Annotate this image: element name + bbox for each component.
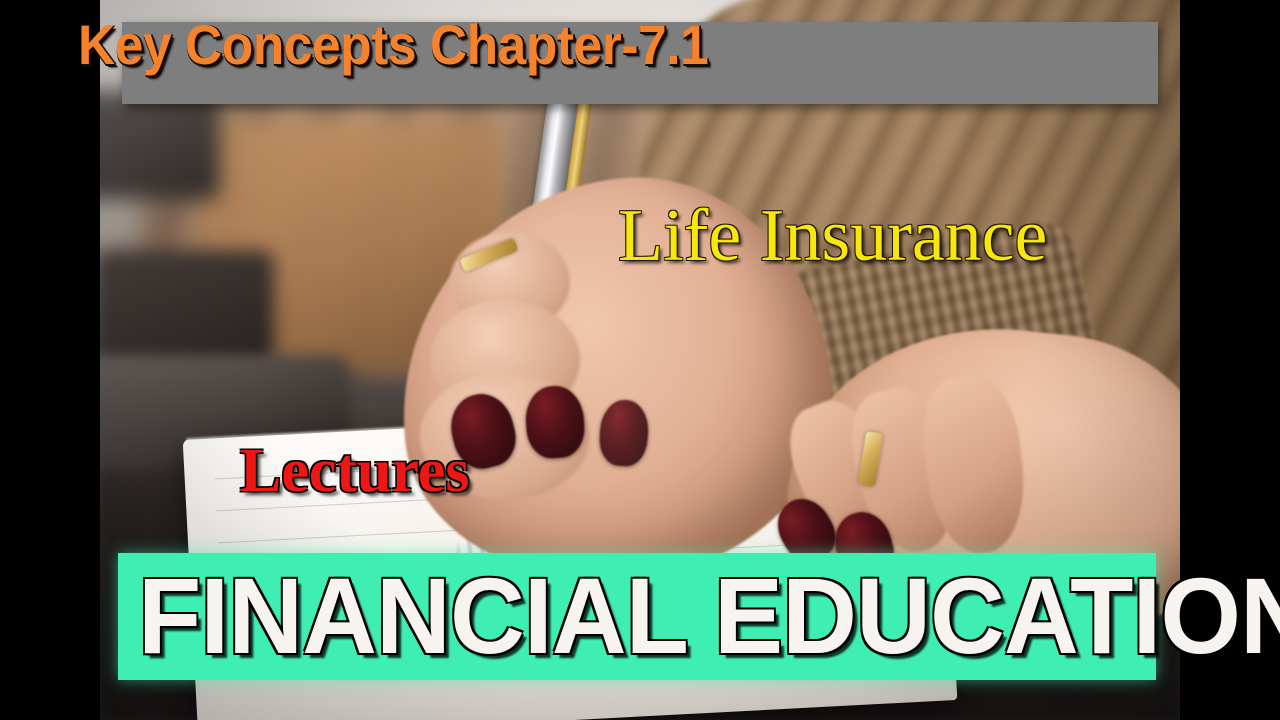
blurred-device-mid-left	[100, 250, 274, 370]
subtitle-text: Life Insurance	[618, 196, 1047, 276]
lectures-label: Lectures	[240, 438, 470, 504]
video-thumbnail: Key Concepts Chapter-7.1 Life Insurance …	[0, 0, 1280, 720]
blurred-device-top-left	[100, 90, 220, 200]
title-text: Key Concepts Chapter-7.1	[78, 17, 708, 73]
letterbox-bar-left	[0, 0, 100, 720]
brand-text: FINANCIAL EDUCATION	[138, 557, 1098, 675]
